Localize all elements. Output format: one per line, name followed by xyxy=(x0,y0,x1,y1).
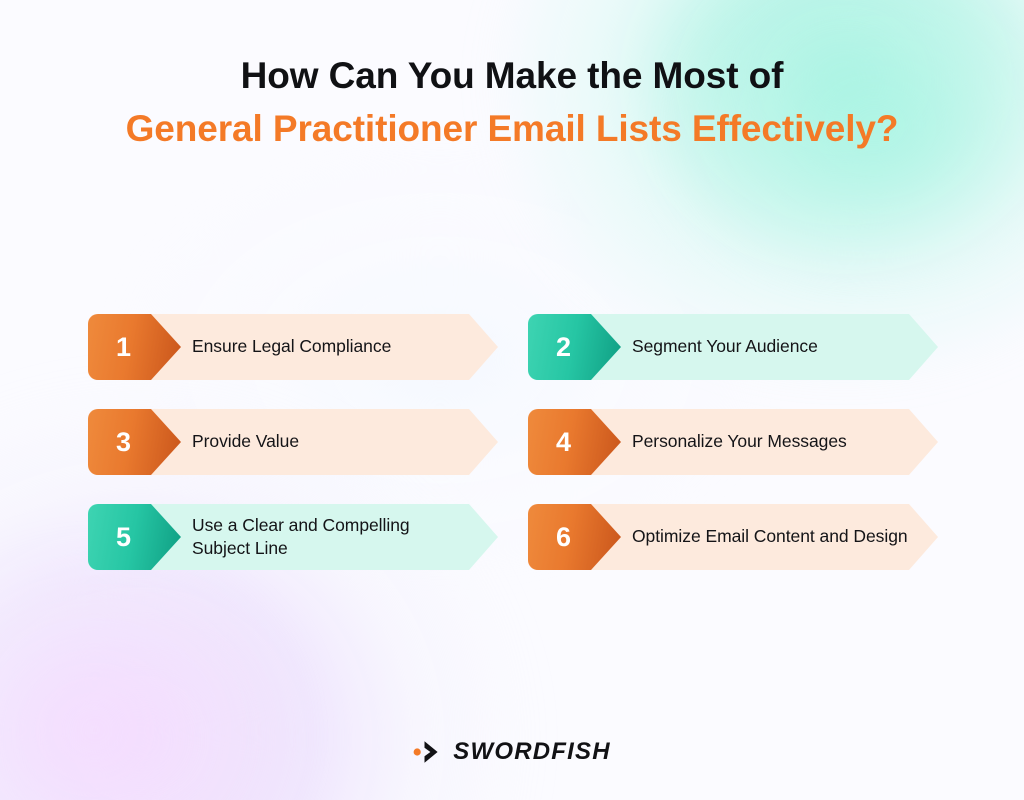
step-number: 1 xyxy=(88,334,131,361)
step-number: 6 xyxy=(528,524,571,551)
page-title-line-1: How Can You Make the Most of xyxy=(0,52,1024,101)
step-item: 2Segment Your Audience xyxy=(528,314,938,380)
step-number: 5 xyxy=(88,524,131,551)
step-number: 2 xyxy=(528,334,571,361)
page-title-line-2: General Practitioner Email Lists Effecti… xyxy=(0,105,1024,154)
step-item: 3Provide Value xyxy=(88,409,498,475)
step-item: 6Optimize Email Content and Design xyxy=(528,504,938,570)
infographic-canvas: How Can You Make the Most of General Pra… xyxy=(0,0,1024,800)
step-label: Optimize Email Content and Design xyxy=(632,504,912,570)
brand-name: SWORDFISH xyxy=(453,740,610,764)
step-label: Provide Value xyxy=(192,409,472,475)
step-number: 3 xyxy=(88,429,131,456)
step-item: 4Personalize Your Messages xyxy=(528,409,938,475)
page-title: How Can You Make the Most of General Pra… xyxy=(0,52,1024,154)
chevron-right-icon xyxy=(413,739,443,765)
step-label: Ensure Legal Compliance xyxy=(192,314,472,380)
step-label: Segment Your Audience xyxy=(632,314,912,380)
step-item: 5Use a Clear and Compelling Subject Line xyxy=(88,504,498,570)
step-label: Use a Clear and Compelling Subject Line xyxy=(192,504,472,570)
step-item: 1Ensure Legal Compliance xyxy=(88,314,498,380)
step-label: Personalize Your Messages xyxy=(632,409,912,475)
steps-list: 1Ensure Legal Compliance2Segment Your Au… xyxy=(88,314,938,570)
brand-logo: SWORDFISH xyxy=(0,739,1024,765)
step-number: 4 xyxy=(528,429,571,456)
